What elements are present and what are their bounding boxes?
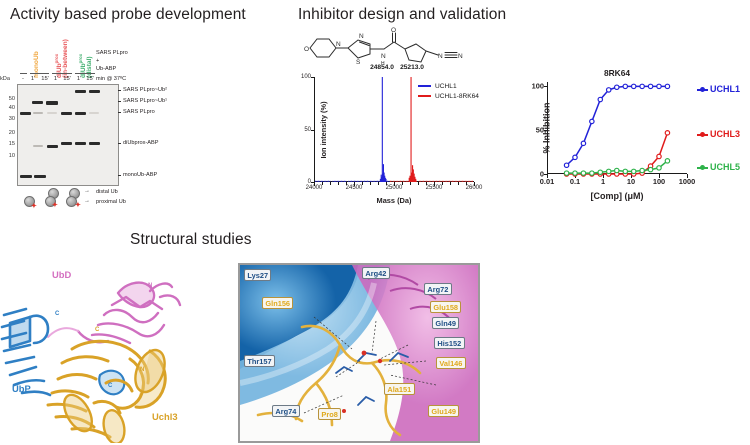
time-temp-label: min @ 37ºC (96, 76, 126, 82)
lane-header-0: - (18, 76, 28, 82)
ms-legend-swatch-uchl1 (418, 85, 431, 87)
gel-band (89, 142, 100, 145)
ribbon-term-c2: C (95, 327, 100, 333)
ribbon-structure: C C N N C (0, 263, 235, 443)
lane-rule-2 (52, 73, 72, 74)
residue-label-ala151: Ala151 (384, 383, 415, 395)
dr-ytick-50: 50 (536, 126, 544, 135)
atom-label-n5: N (458, 53, 463, 60)
band-tick (118, 90, 121, 91)
residue-label-gln156: Gln156 (262, 297, 293, 309)
gel-band (32, 101, 43, 104)
residue-label-glu158: Glu158 (430, 301, 461, 313)
reaction-line-2: + (96, 58, 99, 64)
ms-ytick-100: 100 (301, 74, 311, 80)
gel-group-label-diub-distal-sup: prox (78, 54, 83, 64)
gel-band (89, 90, 100, 93)
atom-label-n1: N (336, 41, 341, 48)
residue-label-lys27: Lys27 (244, 269, 271, 281)
cartoon-label-distal: distal Ub (96, 189, 118, 195)
arrow-distal-icon: → (84, 188, 90, 194)
ms-legend-uchl1: UCHL1 (418, 83, 457, 90)
band-tick (118, 112, 121, 113)
residue-label-gln49: Gln49 (432, 317, 459, 329)
ms-x-axis-label: Mass (Da) (377, 196, 412, 205)
gel-band (20, 175, 32, 178)
ms-legend-label-uchl1: UCHL1 (435, 83, 457, 90)
residue-label-his152: His152 (434, 337, 465, 349)
panel-inhibitor-design: Inhibitor design and validation (290, 0, 505, 225)
chain-label-uchl3: Uchl3 (152, 411, 178, 422)
arrow-proximal-icon: → (84, 198, 90, 204)
gel-band (61, 112, 72, 115)
reaction-line-3: Ub-ABP (96, 66, 116, 72)
ladder-10: 10 (9, 153, 15, 159)
atom-label-n4: N (438, 53, 443, 60)
gel-image: 50 40 30 20 15 10 (17, 84, 119, 186)
dr-x-axis-label: [Comp] (μM) (591, 191, 644, 201)
dr-legend-label-uchl1: UCHL1 (710, 84, 740, 94)
ms-xtick-25000: 25000 (386, 185, 403, 191)
residue-label-val146: Val146 (436, 357, 466, 369)
atom-label-n3: N (381, 53, 386, 60)
ladder-15: 15 (9, 141, 15, 147)
panel-d-title: Structural studies (130, 231, 252, 249)
lane-header-6: 15' (84, 76, 96, 82)
panel-b-title: Inhibitor design and validation (298, 6, 506, 24)
ladder-20: 20 (9, 130, 15, 136)
lane-header-4: 15' (61, 76, 73, 82)
ms-xtick-24000: 24000 (306, 185, 323, 191)
dr-legend-label-uchl5: UCHL5 (710, 162, 740, 172)
residue-label-arg72: Arg72 (424, 283, 452, 295)
dose-response-title: 8RK64 (604, 68, 630, 78)
panel-dose-response: 8RK64 % Inhibition 100 50 0 0.01 0.1 1 1… (505, 0, 750, 225)
ribbon-term-n2: N (140, 367, 144, 373)
chemical-structure-8rk64: O N N S O N H N N (302, 26, 487, 72)
dr-ytick-100: 100 (532, 82, 544, 91)
lane-rule-3 (75, 73, 95, 74)
dr-legend-uchl1: UCHL1 (697, 84, 740, 94)
dose-response-chart: % Inhibition 100 50 0 0.01 0.1 1 10 100 … (547, 82, 687, 174)
band-label-plpro: SARS PLpro (123, 109, 155, 115)
gel-band (75, 142, 86, 145)
gel-band (33, 112, 43, 114)
ms-xtick-24500: 24500 (346, 185, 363, 191)
gel-group-label-diub-inbetween-sup: prox (54, 54, 59, 64)
residue-label-arg42: Arg42 (362, 267, 390, 279)
gel-band (75, 112, 86, 115)
reaction-line-1: SARS PLpro (96, 50, 128, 56)
gel-band (20, 112, 31, 115)
band-tick (118, 143, 121, 144)
panel-a-title: Activity based probe development (10, 6, 246, 24)
structure-inset-surface: Lys27 Gln156 Thr157 Arg74 Pro8 Arg42 Arg… (238, 263, 480, 443)
ms-peak-label-2: 25213.0 (400, 64, 424, 71)
dr-legend-label-uchl3: UCHL3 (710, 129, 740, 139)
dr-xtick-10: 10 (627, 177, 635, 186)
residue-label-arg74: Arg74 (272, 405, 300, 417)
ms-legend-swatch-uchl1-8rk64 (418, 95, 431, 97)
ladder-40: 40 (9, 105, 15, 111)
cartoon-label-proximal: proximal Ub (96, 199, 126, 205)
chain-label-ubd: UbD (52, 269, 71, 280)
ms-legend-uchl1-8rk64: UCHL1-8RK64 (418, 93, 479, 100)
band-label-plpro-ub1: SARS PLpro~Ub¹ (123, 98, 167, 104)
residue-label-glu149: Glu149 (428, 405, 459, 417)
ms-legend-label-uchl1-8rk64: UCHL1-8RK64 (435, 93, 479, 100)
band-tick (118, 101, 121, 102)
dr-xtick-0-1: 0.1 (570, 177, 580, 186)
panel-structural-studies: Structural studies (0, 225, 750, 445)
kda-label: kDa (0, 76, 10, 82)
ms-ytick-50: 50 (304, 127, 311, 133)
ladder-30: 30 (9, 116, 15, 122)
ribbon-term-c3: C (108, 383, 113, 389)
chain-label-ubp: UbP (12, 383, 31, 394)
band-label-plpro-ub2: SARS PLpro~Ub² (123, 87, 167, 93)
dr-xtick-100: 100 (653, 177, 665, 186)
lane-rule-0 (20, 73, 27, 74)
dr-xtick-0-01: 0.01 (540, 177, 554, 186)
gel-band (89, 112, 99, 114)
mass-spec-chart: Ion intensity (%) 100 50 0 24000 24500 2… (314, 77, 474, 182)
dr-xtick-1000: 1000 (679, 177, 695, 186)
ladder-50: 50 (9, 96, 15, 102)
lane-header-3: 1' (51, 76, 61, 82)
dr-legend-uchl5: UCHL5 (697, 162, 740, 172)
gel-band (47, 112, 57, 114)
dr-legend-uchl3: UCHL3 (697, 129, 740, 139)
gel-group-label-diub-distal-2: (distal) (86, 56, 93, 78)
ms-peak-label-1: 24854.0 (370, 64, 394, 71)
band-tick (118, 175, 121, 176)
gel-band (46, 101, 58, 105)
ms-xtick-25500: 25500 (426, 185, 443, 191)
ribbon-term-c1: C (55, 311, 60, 317)
lane-header-1: 1' (28, 76, 38, 82)
atom-label-o: O (304, 46, 309, 53)
dr-curves (547, 82, 687, 174)
lane-rule-1 (30, 73, 49, 74)
ribbon-term-n1: N (148, 283, 152, 289)
atom-label-s: S (356, 59, 361, 66)
gel-band (61, 142, 72, 145)
dr-xtick-1: 1 (601, 177, 605, 186)
panel-activity-based-probe: Activity based probe development monoUb … (0, 0, 290, 225)
band-label-diub-abp: diUbprox-ABP (123, 140, 158, 146)
ms-xtick-26000: 26000 (466, 185, 483, 191)
atom-label-n2: N (359, 33, 364, 40)
residue-label-thr157: Thr157 (244, 355, 275, 367)
gel-band (33, 145, 43, 147)
atom-label-o2: O (391, 27, 396, 34)
gel-band (75, 90, 86, 93)
gel-band (47, 145, 58, 148)
gel-band (34, 175, 46, 178)
residue-label-pro8: Pro8 (318, 408, 341, 420)
lane-header-2: 15' (39, 76, 51, 82)
lane-header-5: 1' (74, 76, 84, 82)
band-label-monoub-abp: monoUb-ABP (123, 172, 157, 178)
